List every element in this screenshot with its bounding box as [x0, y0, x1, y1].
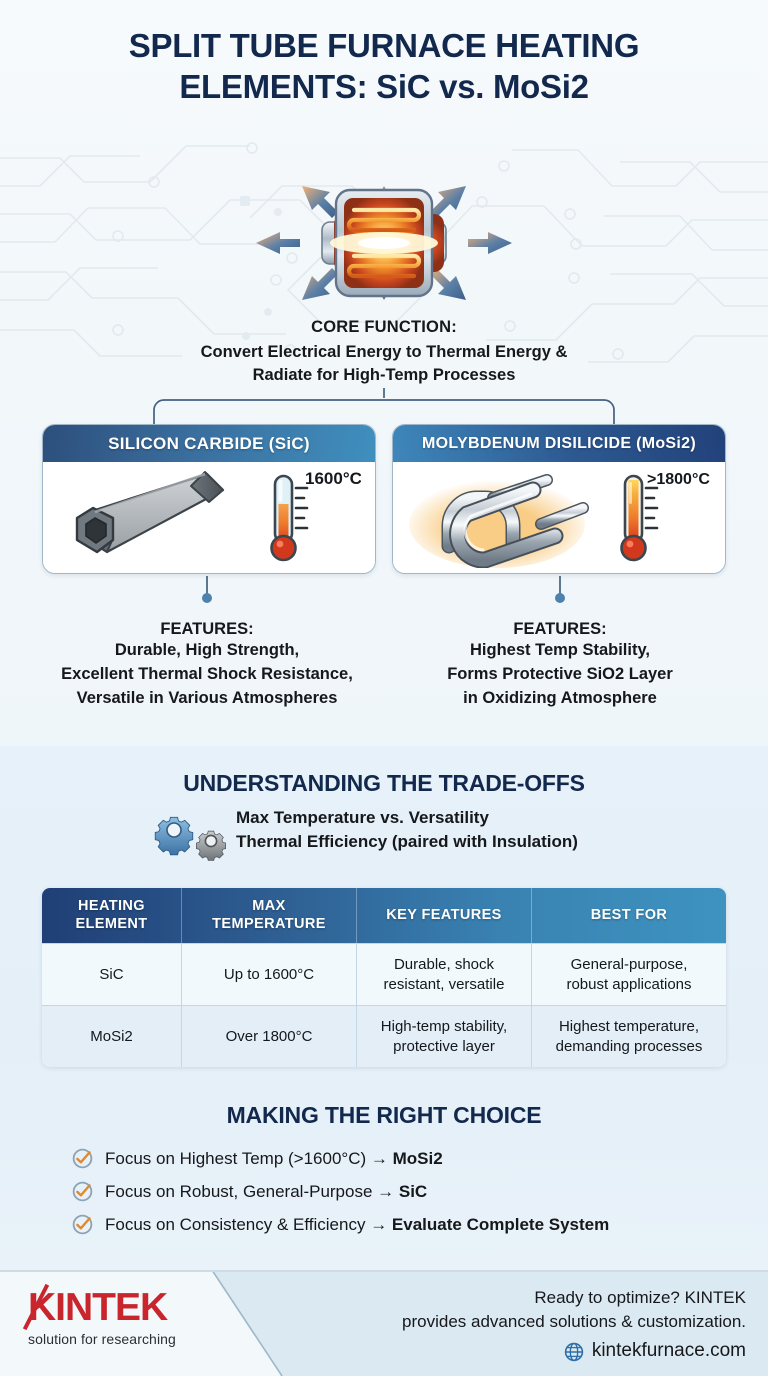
cell-max-temperature: Over 1800°C	[182, 1005, 357, 1067]
tradeoffs-text: Max Temperature vs. Versatility Thermal …	[236, 806, 676, 854]
footer-cta-line1: Ready to optimize? KINTEK	[306, 1286, 746, 1310]
features-sic-line2: Excellent Thermal Shock Resistance,	[37, 663, 377, 687]
globe-icon	[564, 1342, 584, 1362]
choice-item-2: Focus on Robust, General-Purpose → SiC	[72, 1175, 732, 1208]
sic-temperature-label: 1600°C	[305, 469, 361, 488]
cell-key-features: Durable, shock resistant, versatile	[357, 943, 532, 1005]
choice-item-1: Focus on Highest Temp (>1600°C) → MoSi2	[72, 1142, 732, 1175]
footer-url[interactable]: kintekfurnace.com	[592, 1338, 746, 1365]
table-head: HEATING ELEMENT MAX TEMPERATURE KEY FEAT…	[42, 888, 726, 943]
choice-title: MAKING THE RIGHT CHOICE	[0, 1102, 768, 1129]
cell-best-for: General-purpose, robust applications	[532, 943, 726, 1005]
table-header-row: HEATING ELEMENT MAX TEMPERATURE KEY FEAT…	[42, 888, 726, 943]
kintek-logo[interactable]: KINTEK solution for researching	[28, 1288, 228, 1347]
card-mosi2[interactable]: MOLYBDENUM DISILICIDE (MoSi2)	[392, 424, 726, 574]
card-sic-header: SILICON CARBIDE (SiC)	[43, 425, 375, 462]
table-header-best-for: BEST FOR	[532, 888, 726, 943]
thermometer-icon: >1800°C	[607, 466, 711, 570]
tradeoffs-title: UNDERSTANDING THE TRADE-OFFS	[0, 770, 768, 797]
check-circle-icon	[72, 1181, 93, 1202]
features-mosi2: FEATURES: Highest Temp Stability, Forms …	[390, 620, 730, 711]
card-sic[interactable]: SILICON CARBIDE (SiC)	[42, 424, 376, 574]
table-row: MoSi2 Over 1800°C High-temp stability, p…	[42, 1005, 726, 1067]
logo-tagline: solution for researching	[28, 1331, 228, 1347]
page-title: SPLIT TUBE FURNACE HEATING ELEMENTS: SiC…	[0, 26, 768, 107]
features-sic-line1: Durable, High Strength,	[37, 639, 377, 663]
features-sic: FEATURES: Durable, High Strength, Excell…	[37, 620, 377, 711]
tradeoffs-line2: Thermal Efficiency (paired with Insulati…	[236, 830, 676, 854]
table-header-max-temperature: MAX TEMPERATURE	[182, 888, 357, 943]
features-mosi2-line2: Forms Protective SiO2 Layer	[390, 663, 730, 687]
cell-key-features: High-temp stability, protective layer	[357, 1005, 532, 1067]
core-function-line1: Convert Electrical Energy to Thermal Ene…	[84, 341, 684, 364]
card-mosi2-header: MOLYBDENUM DISILICIDE (MoSi2)	[393, 425, 725, 462]
feature-stem-right	[553, 576, 567, 604]
features-sic-line3: Versatile in Various Atmospheres	[37, 687, 377, 711]
choice-item-3-text: Focus on Consistency & Efficiency → Eval…	[105, 1215, 609, 1235]
cell-best-for: Highest temperature, demanding processes	[532, 1005, 726, 1067]
table-header-key-features: KEY FEATURES	[357, 888, 532, 943]
gears-icon	[150, 804, 236, 862]
check-circle-icon	[72, 1214, 93, 1235]
furnace-tube-icon	[234, 148, 534, 313]
choice-item-1-text: Focus on Highest Temp (>1600°C) → MoSi2	[105, 1149, 443, 1169]
cell-element: SiC	[42, 943, 182, 1005]
logo-wordmark: KINTEK	[28, 1288, 228, 1327]
comparison-table: HEATING ELEMENT MAX TEMPERATURE KEY FEAT…	[42, 888, 726, 1067]
page-title-line2: ELEMENTS: SiC vs. MoSi2	[0, 67, 768, 108]
footer-url-row[interactable]: kintekfurnace.com	[306, 1338, 746, 1365]
features-mosi2-line1: Highest Temp Stability,	[390, 639, 730, 663]
choice-item-2-text: Focus on Robust, General-Purpose → SiC	[105, 1182, 427, 1202]
footer-cta: Ready to optimize? KINTEK provides advan…	[306, 1286, 746, 1365]
table-body: SiC Up to 1600°C Durable, shock resistan…	[42, 943, 726, 1067]
sic-hex-rod-icon	[55, 468, 255, 568]
features-mosi2-line3: in Oxidizing Atmosphere	[390, 687, 730, 711]
tradeoffs-line1: Max Temperature vs. Versatility	[236, 806, 676, 830]
mosi2-u-element-icon	[405, 468, 605, 568]
cell-element: MoSi2	[42, 1005, 182, 1067]
choice-list: Focus on Highest Temp (>1600°C) → MoSi2 …	[72, 1142, 732, 1241]
choice-item-3: Focus on Consistency & Efficiency → Eval…	[72, 1208, 732, 1241]
core-function-line2: Radiate for High-Temp Processes	[84, 364, 684, 387]
features-sic-heading: FEATURES:	[37, 620, 377, 639]
check-circle-icon	[72, 1148, 93, 1169]
footer-cta-line2: provides advanced solutions & customizat…	[306, 1310, 746, 1334]
feature-stem-left	[200, 576, 214, 604]
cell-max-temperature: Up to 1600°C	[182, 943, 357, 1005]
card-sic-body: 1600°C 1600°C	[43, 462, 375, 574]
table-header-heating-element: HEATING ELEMENT	[42, 888, 182, 943]
core-function-heading: CORE FUNCTION:	[0, 318, 768, 337]
page-title-line1: SPLIT TUBE FURNACE HEATING	[0, 26, 768, 67]
features-mosi2-heading: FEATURES:	[390, 620, 730, 639]
thermometer-icon: 1600°C	[257, 466, 361, 570]
mosi2-temperature-label: >1800°C	[647, 471, 710, 488]
core-function-description: Convert Electrical Energy to Thermal Ene…	[84, 341, 684, 388]
table-row: SiC Up to 1600°C Durable, shock resistan…	[42, 943, 726, 1005]
card-mosi2-body: >1800°C >1800°C	[393, 462, 725, 574]
